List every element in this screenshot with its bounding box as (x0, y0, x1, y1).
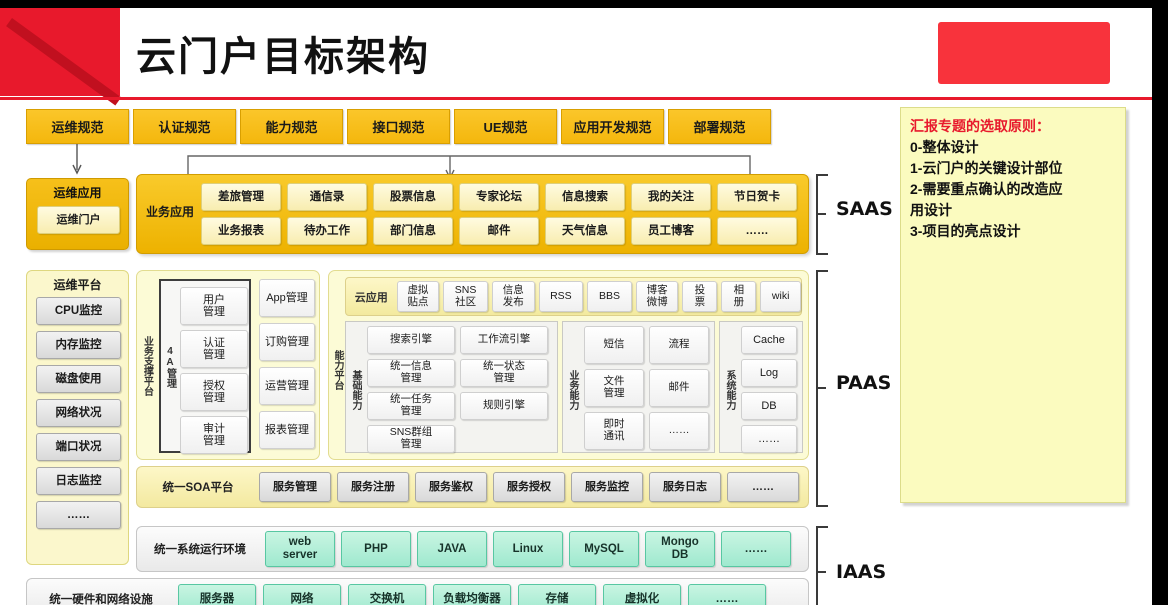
saas-app-chip[interactable]: 我的关注 (631, 183, 711, 211)
hardware-component-chip[interactable]: 存储 (518, 584, 596, 605)
basic-capability-item[interactable]: 搜索引擎 (367, 326, 455, 354)
saas-app-chip[interactable]: 部门信息 (373, 217, 453, 245)
bsp-management-item[interactable]: 运营管理 (259, 367, 315, 405)
soa-service-chip[interactable]: 服务注册 (337, 472, 409, 502)
runtime-component-chip[interactable]: MySQL (569, 531, 639, 567)
standard-box[interactable]: 接口规范 (347, 109, 450, 144)
note-line: 用设计 (910, 200, 1116, 221)
saas-app-chip[interactable]: 信息搜索 (545, 183, 625, 211)
saas-app-row: 差旅管理 通信录 股票信息 专家论坛 信息搜索 我的关注 节日贺卡 (201, 183, 797, 211)
hardware-network-row: 统一硬件和网络设施 服务器 网络 交换机 负载均衡器 存储 虚拟化 …… (26, 578, 809, 605)
saas-app-row: 业务报表 待办工作 部门信息 邮件 天气信息 员工博客 …… (201, 217, 797, 245)
system-capability-block: 系统能力 Cache Log DB …… (719, 321, 803, 453)
ops-application-block: 运维应用 运维门户 (26, 178, 129, 250)
ops-platform-item[interactable]: 内存监控 (36, 331, 121, 359)
slide-canvas: 云门户目标架构 汇报专题的选取原则： 0-整体设计 1-云门户的关键设计部位 2… (0, 8, 1152, 605)
ops-platform-item[interactable]: 端口状况 (36, 433, 121, 461)
business-capability-item[interactable]: …… (649, 412, 709, 450)
business-capability-item[interactable]: 文件管理 (584, 369, 644, 407)
soa-service-chip[interactable]: 服务鉴权 (415, 472, 487, 502)
standard-box[interactable]: 部署规范 (668, 109, 771, 144)
standards-row: 运维规范 认证规范 能力规范 接口规范 UE规范 应用开发规范 部署规范 (26, 109, 771, 144)
standard-box[interactable]: 应用开发规范 (561, 109, 664, 144)
basic-capability-col: 工作流引擎 统一状态管理 规则引擎 (460, 326, 548, 453)
soa-service-chip[interactable]: 服务日志 (649, 472, 721, 502)
capability-platform-label: 能力平台 (331, 323, 344, 417)
business-capability-grid: 短信 文件管理 即时通讯 流程 邮件 …… (584, 326, 709, 450)
red-corner-decoration (0, 8, 120, 96)
ops-platform-item[interactable]: CPU监控 (36, 297, 121, 325)
basic-capability-label: 基础能力 (349, 344, 362, 436)
saas-app-chip[interactable]: …… (717, 217, 797, 245)
red-block-decoration (938, 22, 1110, 84)
soa-service-chip[interactable]: 服务监控 (571, 472, 643, 502)
four-a-list: 用户管理 认证管理 授权管理 审计管理 (180, 287, 248, 454)
cloud-application-row: 云应用 虚拟贴点 SNS社区 信息发布 RSS BBS 博客微博 投票 相册 w… (345, 277, 802, 316)
system-capability-item[interactable]: Log (741, 359, 797, 387)
hardware-component-chip[interactable]: 服务器 (178, 584, 256, 605)
basic-capability-item[interactable]: 统一状态管理 (460, 359, 548, 387)
ops-platform-item[interactable]: …… (36, 501, 121, 529)
hardware-component-chip[interactable]: 负载均衡器 (433, 584, 511, 605)
four-a-management-block: 4A管理 用户管理 认证管理 授权管理 审计管理 (159, 279, 251, 453)
basic-capability-block: 基础能力 搜索引擎 统一信息管理 统一任务管理 SNS群组管理 工作流引擎 统一… (345, 321, 558, 453)
note-line: 2-需要重点确认的改造应 (910, 179, 1116, 200)
ops-application-title: 运维应用 (27, 179, 128, 201)
runtime-component-chip[interactable]: Linux (493, 531, 563, 567)
bsp-management-item[interactable]: 订购管理 (259, 323, 315, 361)
saas-app-chip[interactable]: 专家论坛 (459, 183, 539, 211)
four-a-label: 4A管理 (163, 307, 177, 427)
business-capability-col: 短信 文件管理 即时通讯 (584, 326, 644, 450)
business-capability-label: 业务能力 (566, 344, 579, 436)
unified-runtime-environment-row: 统一系统运行环境 webserver PHP JAVA Linux MySQL … (136, 526, 809, 572)
standard-box[interactable]: 能力规范 (240, 109, 343, 144)
cloud-app-chip[interactable]: RSS (539, 281, 584, 312)
note-title: 汇报专题的选取原则： (910, 116, 1116, 137)
saas-app-chip[interactable]: 差旅管理 (201, 183, 281, 211)
basic-capability-item[interactable]: 统一任务管理 (367, 392, 455, 420)
note-panel: 汇报专题的选取原则： 0-整体设计 1-云门户的关键设计部位 2-需要重点确认的… (900, 107, 1126, 503)
saas-app-chip[interactable]: 员工博客 (631, 217, 711, 245)
hardware-component-chip[interactable]: 虚拟化 (603, 584, 681, 605)
cloud-app-chip[interactable]: wiki (760, 281, 801, 312)
title-divider (0, 97, 1152, 100)
business-support-platform: 业务支撑平台 4A管理 用户管理 认证管理 授权管理 审计管理 App管理 订购… (136, 270, 320, 460)
saas-band: 业务应用 差旅管理 通信录 股票信息 专家论坛 信息搜索 我的关注 节日贺卡 业… (136, 174, 809, 254)
note-line: 0-整体设计 (910, 137, 1116, 158)
soa-platform-row: 统一SOA平台 服务管理 服务注册 服务鉴权 服务授权 服务监控 服务日志 …… (136, 466, 809, 508)
four-a-item[interactable]: 授权管理 (180, 373, 248, 411)
saas-app-chip[interactable]: 天气信息 (545, 217, 625, 245)
saas-app-chip[interactable]: 节日贺卡 (717, 183, 797, 211)
runtime-component-chip[interactable]: MongoDB (645, 531, 715, 567)
page-title: 云门户目标架构 (136, 24, 430, 82)
saas-app-chip[interactable]: 待办工作 (287, 217, 367, 245)
business-capability-block: 业务能力 短信 文件管理 即时通讯 流程 邮件 …… (562, 321, 715, 453)
ops-platform-item[interactable]: 网络状况 (36, 399, 121, 427)
saas-layer-label: SAAS (836, 198, 893, 220)
ops-portal-chip[interactable]: 运维门户 (37, 206, 120, 234)
four-a-item[interactable]: 审计管理 (180, 416, 248, 454)
runtime-environment-label: 统一系统运行环境 (141, 541, 259, 557)
cloud-app-chip[interactable]: 相册 (721, 281, 756, 312)
ops-platform-item[interactable]: 磁盘使用 (36, 365, 121, 393)
bsp-management-item[interactable]: 报表管理 (259, 411, 315, 449)
capability-platform: 能力平台 云应用 虚拟贴点 SNS社区 信息发布 RSS BBS 博客微博 投票… (328, 270, 809, 460)
basic-capability-item[interactable]: 统一信息管理 (367, 359, 455, 387)
basic-capability-grid: 搜索引擎 统一信息管理 统一任务管理 SNS群组管理 工作流引擎 统一状态管理 … (367, 326, 548, 453)
saas-app-chip[interactable]: 通信录 (287, 183, 367, 211)
iaas-layer-label: IAAS (836, 561, 886, 583)
cloud-app-chip[interactable]: BBS (587, 281, 632, 312)
standard-box[interactable]: 认证规范 (133, 109, 236, 144)
saas-app-grid: 差旅管理 通信录 股票信息 专家论坛 信息搜索 我的关注 节日贺卡 业务报表 待… (201, 183, 797, 245)
cloud-app-chip[interactable]: 投票 (682, 281, 717, 312)
note-line: 3-项目的亮点设计 (910, 221, 1116, 242)
system-capability-list: Cache Log DB …… (741, 326, 797, 453)
ops-platform-title: 运维平台 (27, 271, 128, 293)
runtime-component-chip[interactable]: PHP (341, 531, 411, 567)
cloud-app-chip[interactable]: 博客微博 (636, 281, 679, 312)
saas-app-chip[interactable]: 邮件 (459, 217, 539, 245)
standard-box[interactable]: UE规范 (454, 109, 557, 144)
saas-app-chip[interactable]: 股票信息 (373, 183, 453, 211)
business-capability-item[interactable]: 短信 (584, 326, 644, 364)
bsp-label: 业务支撑平台 (140, 295, 154, 437)
business-application-label: 业务应用 (144, 203, 196, 220)
bsp-management-list: App管理 订购管理 运营管理 报表管理 (259, 279, 315, 449)
system-capability-label: 系统能力 (723, 344, 736, 436)
business-capability-col: 流程 邮件 …… (649, 326, 709, 450)
hardware-component-chip[interactable]: …… (688, 584, 766, 605)
ops-platform-block: 运维平台 CPU监控 内存监控 磁盘使用 网络状况 端口状况 日志监控 …… (26, 270, 129, 565)
business-capability-item[interactable]: 即时通讯 (584, 412, 644, 450)
runtime-component-chip[interactable]: …… (721, 531, 791, 567)
ops-platform-list: CPU监控 内存监控 磁盘使用 网络状况 端口状况 日志监控 …… (36, 297, 121, 529)
soa-service-chip[interactable]: 服务授权 (493, 472, 565, 502)
hardware-component-chip[interactable]: 交换机 (348, 584, 426, 605)
cloud-app-chip[interactable]: 信息发布 (492, 281, 535, 312)
four-a-item[interactable]: 用户管理 (180, 287, 248, 325)
basic-capability-item[interactable]: 规则引擎 (460, 392, 548, 420)
cloud-app-chip[interactable]: SNS社区 (443, 281, 488, 312)
paas-layer-label: PAAS (836, 372, 891, 394)
diagonal-stripe-decoration (6, 18, 121, 105)
saas-app-chip[interactable]: 业务报表 (201, 217, 281, 245)
basic-capability-item[interactable]: SNS群组管理 (367, 425, 455, 453)
system-capability-item[interactable]: Cache (741, 326, 797, 354)
basic-capability-col: 搜索引擎 统一信息管理 统一任务管理 SNS群组管理 (367, 326, 455, 453)
ops-platform-item[interactable]: 日志监控 (36, 467, 121, 495)
system-capability-item[interactable]: …… (741, 425, 797, 453)
standard-box[interactable]: 运维规范 (26, 109, 129, 144)
soa-service-chip[interactable]: 服务管理 (259, 472, 331, 502)
cloud-application-label: 云应用 (350, 289, 393, 305)
runtime-component-chip[interactable]: JAVA (417, 531, 487, 567)
note-line: 1-云门户的关键设计部位 (910, 158, 1116, 179)
bsp-management-item[interactable]: App管理 (259, 279, 315, 317)
basic-capability-item[interactable]: 工作流引擎 (460, 326, 548, 354)
cloud-app-chip[interactable]: 虚拟贴点 (397, 281, 440, 312)
runtime-component-chip[interactable]: webserver (265, 531, 335, 567)
hardware-component-chip[interactable]: 网络 (263, 584, 341, 605)
soa-platform-label: 统一SOA平台 (143, 479, 253, 495)
business-capability-item[interactable]: 邮件 (649, 369, 709, 407)
title-bar: 云门户目标架构 (0, 8, 1152, 96)
connector-lines (60, 144, 820, 178)
business-capability-item[interactable]: 流程 (649, 326, 709, 364)
hardware-network-label: 统一硬件和网络设施 (31, 591, 171, 605)
four-a-item[interactable]: 认证管理 (180, 330, 248, 368)
system-capability-item[interactable]: DB (741, 392, 797, 420)
soa-service-chip[interactable]: …… (727, 472, 799, 502)
